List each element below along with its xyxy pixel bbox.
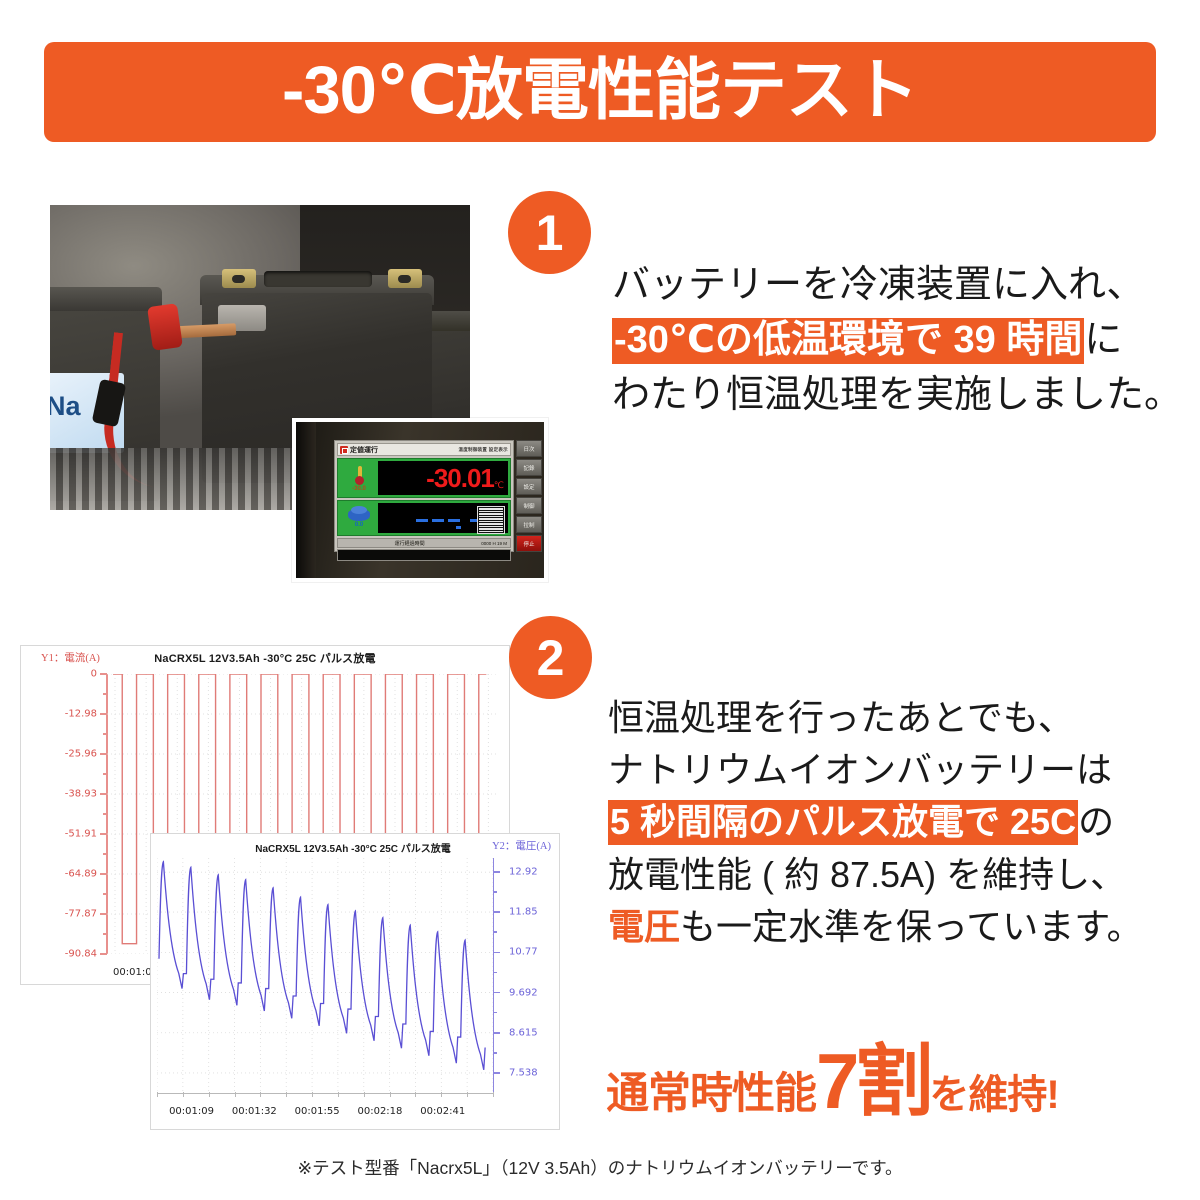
level-bar bbox=[479, 531, 503, 533]
controller-screen: 定値運行 温度制御装置 設定表示 -30.0 -30.01 ℃ 0.0 bbox=[334, 440, 514, 552]
chart2-x-tick-label: 00:01:32 bbox=[232, 1106, 277, 1117]
chart2-y-tick-mark bbox=[493, 911, 500, 913]
chart1-y-tick-label: -12.98 bbox=[65, 709, 97, 720]
dash-seg bbox=[456, 526, 461, 529]
level-bar bbox=[479, 508, 503, 510]
chart1-y-tick-mark bbox=[100, 793, 107, 795]
chart2-y-tick-mark-minor bbox=[493, 1052, 497, 1054]
level-bar bbox=[479, 513, 503, 515]
step2-voltage-word: 電圧 bbox=[608, 906, 680, 947]
run-mode-icon bbox=[340, 446, 348, 454]
fan-icon bbox=[348, 509, 370, 521]
step2-line-2: ナトリウムイオンバッテリーは bbox=[608, 744, 1188, 796]
controller-button-setting[interactable]: 設定 bbox=[516, 478, 542, 495]
chart2-y-tick-mark-minor bbox=[493, 1012, 497, 1014]
chart2-svg bbox=[157, 858, 493, 1093]
page-title: -30℃放電性能テスト bbox=[44, 40, 1156, 140]
secondary-battery-top bbox=[50, 287, 162, 311]
final-claim-prefix: 通常時性能 bbox=[606, 1059, 816, 1121]
controller-button-stop[interactable]: 停止 bbox=[516, 535, 542, 552]
humidity-readout bbox=[378, 503, 508, 533]
chart2-y-tick-label: 12.92 bbox=[509, 867, 538, 878]
temperature-setpoint: -30.0 bbox=[352, 486, 366, 492]
battery-handle bbox=[264, 271, 372, 287]
chart1-y-tick-mark bbox=[100, 833, 107, 835]
chart1-y-tick-label: -64.89 bbox=[65, 869, 97, 880]
level-bar bbox=[479, 528, 503, 530]
chart2-y-tick-label: 10.77 bbox=[509, 947, 538, 958]
chart1-y-tick-mark bbox=[100, 673, 107, 675]
temperature-readout: -30.01 ℃ bbox=[378, 461, 508, 495]
chart1-y-tick-label: -51.91 bbox=[65, 829, 97, 840]
humidity-value: 0.0 bbox=[355, 522, 363, 528]
chart2-x-tick-mark bbox=[493, 1092, 494, 1097]
chart1-y-tick-mark bbox=[100, 953, 107, 955]
dash-seg bbox=[432, 519, 444, 522]
secondary-battery-ion-text: Na bbox=[50, 391, 81, 422]
chart2-y-tick-mark bbox=[493, 1072, 500, 1074]
elapsed-time-value: 0000 H 19 M bbox=[481, 541, 507, 546]
controller-button-record[interactable]: 記錄 bbox=[516, 459, 542, 476]
chart2-y-tick-mark bbox=[493, 871, 500, 873]
step2-highlight: 5 秒間隔のパルス放電で 25C bbox=[608, 800, 1078, 845]
chart2-voltage-series bbox=[159, 862, 485, 1070]
chart1-y-axis-label: Y1：電流(A) bbox=[41, 650, 100, 665]
temperature-row: -30.0 -30.01 ℃ bbox=[337, 458, 511, 498]
chart1-y-tick-label: -25.96 bbox=[65, 749, 97, 760]
controller-cabinet-edge bbox=[296, 422, 316, 578]
chart1-y-tick-mark bbox=[100, 913, 107, 915]
final-claim-big: 7割 bbox=[816, 1050, 929, 1112]
step2-line-4: 放電性能 ( 約 87.5A) を維持し、 bbox=[608, 849, 1188, 901]
chart1-y-tick-label: -38.93 bbox=[65, 788, 97, 799]
chart1-y-tick-label: 0 bbox=[91, 669, 97, 680]
chart2-x-tick-label: 00:01:55 bbox=[295, 1106, 340, 1117]
dash-seg bbox=[416, 519, 428, 522]
step1-line-2-tail: に bbox=[1084, 319, 1122, 361]
step-badge-1: 1 bbox=[508, 191, 591, 274]
step2-line-5: 電圧も一定水準を保っています。 bbox=[608, 901, 1188, 953]
footnote: ※テスト型番「Nacrx5L」（12V 3.5Ah）のナトリウムイオンバッテリー… bbox=[0, 1155, 1200, 1180]
chart2-title: NaCRX5L 12V3.5Ah -30°C 25C パルス放電 bbox=[203, 840, 503, 855]
final-claim: 通常時性能 7割 を維持! bbox=[606, 1050, 1059, 1121]
chart2-y-tick-mark-minor bbox=[493, 972, 497, 974]
temperature-unit: ℃ bbox=[494, 480, 504, 491]
level-bar bbox=[479, 523, 503, 525]
temperature-icon-cell: -30.0 bbox=[340, 461, 378, 495]
controller-header-right: 温度制御装置 設定表示 bbox=[458, 447, 508, 452]
humidity-row: 0.0 bbox=[337, 500, 511, 536]
step1-line-1: バッテリーを冷凍装置に入れ、 bbox=[612, 258, 1182, 313]
chart2-y-tick-label: 7.538 bbox=[509, 1067, 538, 1078]
step2-line-3: 5 秒間隔のパルス放電で 25Cの bbox=[608, 796, 1188, 848]
voltage-pulse-chart: NaCRX5L 12V3.5Ah -30°C 25C パルス放電 Y2：電圧(A… bbox=[150, 833, 560, 1130]
step1-description: バッテリーを冷凍装置に入れ、 -30℃の低温環境で 39 時間に わたり恒温処理… bbox=[612, 258, 1182, 423]
controller-button-daily[interactable]: 日次 bbox=[516, 440, 542, 457]
thermometer-bulb bbox=[355, 476, 364, 485]
chart2-y-tick-mark bbox=[493, 992, 500, 994]
chart2-x-tick-label: 00:02:41 bbox=[420, 1106, 465, 1117]
final-claim-suffix: を維持! bbox=[929, 1062, 1058, 1120]
step2-line-3-tail: の bbox=[1078, 801, 1114, 842]
chart2-y-tick-mark-minor bbox=[493, 891, 497, 893]
chart2-x-axis-line bbox=[157, 1093, 493, 1094]
controller-mode-label: 定値運行 bbox=[350, 445, 378, 455]
freezer-controller-display-photo: 定値運行 温度制御装置 設定表示 -30.0 -30.01 ℃ 0.0 bbox=[292, 418, 548, 582]
chart2-y-tick-mark-minor bbox=[493, 931, 497, 933]
level-bar bbox=[479, 516, 503, 518]
chart2-y-tick-label: 11.85 bbox=[509, 907, 538, 918]
elapsed-time-label: 運行経過時間 bbox=[395, 540, 425, 547]
step2-description: 恒温処理を行ったあとでも、 ナトリウムイオンバッテリーは 5 秒間隔のパルス放電… bbox=[608, 692, 1188, 953]
temperature-value: -30.01 bbox=[426, 465, 494, 491]
step2-line-1: 恒温処理を行ったあとでも、 bbox=[608, 692, 1188, 744]
chart2-x-tick-label: 00:01:09 bbox=[169, 1106, 214, 1117]
step2-line-5-tail: も一定水準を保っています。 bbox=[680, 906, 1143, 947]
level-bar bbox=[479, 518, 503, 520]
battery-terminal-negative bbox=[222, 269, 256, 288]
step1-line-2: -30℃の低温環境で 39 時間に bbox=[612, 313, 1182, 368]
controller-button-manual[interactable]: 拉制 bbox=[516, 516, 542, 533]
chart2-y-tick-mark bbox=[493, 952, 500, 954]
fan-icon-cell: 0.0 bbox=[340, 503, 378, 533]
controller-title-bar: 定値運行 温度制御装置 設定表示 bbox=[337, 443, 511, 456]
chart2-y-tick-label: 8.615 bbox=[509, 1027, 538, 1038]
controller-button-control[interactable]: 制御 bbox=[516, 497, 542, 514]
chart2-y-tick-label: 9.692 bbox=[509, 987, 538, 998]
level-bar bbox=[479, 526, 503, 528]
chart2-y-tick-mark bbox=[493, 1032, 500, 1034]
chart1-y-tick-label: -77.87 bbox=[65, 909, 97, 920]
chart2-y-axis-label: Y2：電圧(A) bbox=[492, 838, 551, 853]
chart1-y-tick-mark bbox=[100, 873, 107, 875]
elapsed-time-row: 運行経過時間 0000 H 19 M bbox=[337, 538, 511, 548]
dash-seg bbox=[448, 519, 460, 522]
battery-terminal-positive bbox=[388, 269, 422, 288]
level-bar bbox=[479, 521, 503, 523]
chart1-y-tick-mark bbox=[100, 713, 107, 715]
step1-line-3: わたり恒温処理を実施しました。 bbox=[612, 368, 1182, 423]
controller-status-strip bbox=[337, 549, 511, 561]
terminal-hole-icon bbox=[398, 275, 411, 283]
chart1-y-tick-group: 0-12.98-25.96-38.93-51.91-64.89-77.87-90… bbox=[21, 674, 107, 954]
chart1-y-tick-mark bbox=[100, 753, 107, 755]
chart2-plot-area bbox=[157, 858, 493, 1093]
chart1-y-tick-label: -90.84 bbox=[65, 949, 97, 960]
controller-side-buttons[interactable]: 日次 記錄 設定 制御 拉制 停止 bbox=[516, 440, 542, 552]
terminal-hole-icon bbox=[232, 275, 245, 283]
level-bar bbox=[479, 511, 503, 513]
step-badge-2: 2 bbox=[509, 616, 592, 699]
chart2-y-tick-group: 12.9211.8510.779.6928.6157.538 bbox=[493, 858, 559, 1093]
chart2-x-tick-label: 00:02:18 bbox=[357, 1106, 402, 1117]
step1-highlight: -30℃の低温環境で 39 時間 bbox=[612, 318, 1084, 364]
level-bar-graph bbox=[477, 506, 505, 534]
thermometer-icon bbox=[353, 465, 365, 485]
title-banner: -30℃放電性能テスト bbox=[44, 42, 1156, 142]
